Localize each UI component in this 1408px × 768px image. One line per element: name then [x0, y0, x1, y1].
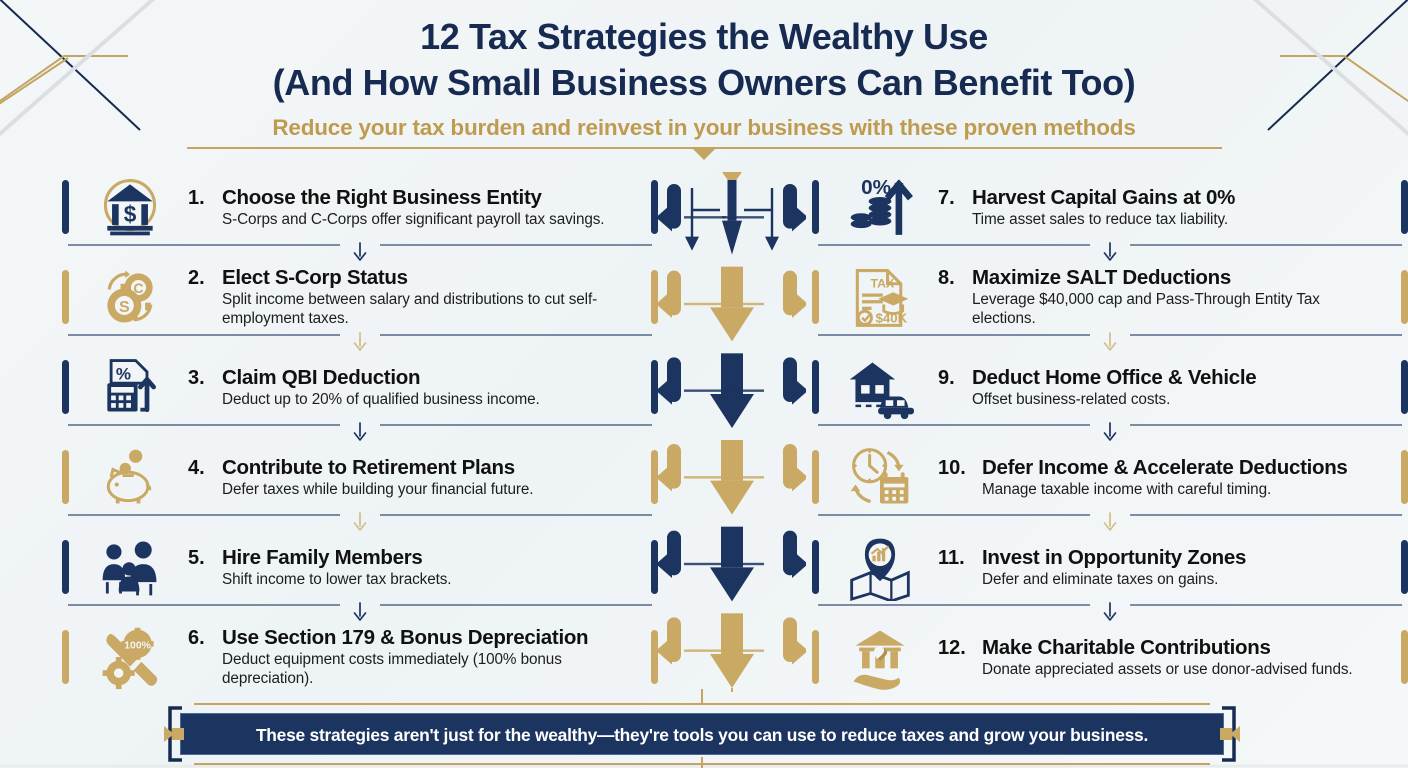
- map-pin-chart-icon: [826, 533, 934, 601]
- wrench-gear-100-icon: 100%: [76, 623, 184, 691]
- row-accent-bar-right: [651, 270, 658, 324]
- strategy-columns: $ 1. Choose the Right Business Entity S-…: [0, 172, 1408, 692]
- svg-text:TAX: TAX: [871, 277, 895, 291]
- separator-line-right: [1130, 244, 1402, 246]
- row-accent-bar-right: [651, 540, 658, 594]
- strategy-description: Deduct equipment costs immediately (100%…: [222, 650, 642, 688]
- row-accent-bar-right: [651, 360, 658, 414]
- charity-hand-heart-icon: [826, 623, 934, 691]
- strategy-headline-row: 1. Choose the Right Business Entity: [188, 186, 542, 210]
- coins-zero-percent-arrow-icon: 0%: [826, 173, 934, 241]
- clock-calendar-icon: [826, 443, 934, 511]
- row-accent-bar-left: [812, 270, 819, 324]
- strategy-headline-row: 5. Hire Family Members: [188, 546, 423, 570]
- row-separator: [62, 332, 658, 352]
- piggy-bank-icon: [76, 443, 184, 511]
- separator-line-left: [818, 424, 1090, 426]
- row-separator: [62, 602, 658, 622]
- separator-line-right: [1130, 334, 1402, 336]
- strategy-headline-row: 4. Contribute to Retirement Plans: [188, 456, 515, 480]
- page-title-line2: (And How Small Business Owners Can Benef…: [0, 60, 1408, 106]
- strategy-number: 6.: [188, 627, 222, 650]
- strategy-text: 7. Harvest Capital Gains at 0% Time asse…: [934, 186, 1392, 229]
- strategy-headline: Elect S-Corp Status: [222, 266, 408, 290]
- strategy-headline: Choose the Right Business Entity: [222, 186, 542, 210]
- row-separator: [812, 602, 1408, 622]
- family-icon: [76, 533, 184, 601]
- strategy-description: Donate appreciated assets or use donor-a…: [982, 660, 1353, 679]
- center-arrow-chain: [658, 172, 806, 692]
- strategy-headline-row: 3. Claim QBI Deduction: [188, 366, 420, 390]
- strategy-text: 12. Make Charitable Contributions Donate…: [934, 636, 1392, 679]
- strategy-text: 9. Deduct Home Office & Vehicle Offset b…: [934, 366, 1392, 409]
- row-separator: [812, 332, 1408, 352]
- strategy-headline-row: 7. Harvest Capital Gains at 0%: [938, 186, 1235, 210]
- footer-left-bracket-icon: [164, 706, 184, 762]
- separator-line-left: [818, 514, 1090, 516]
- separator-line-left: [818, 244, 1090, 246]
- strategy-headline-row: 2. Elect S-Corp Status: [188, 266, 408, 290]
- strategy-number: 4.: [188, 457, 222, 480]
- strategy-row[interactable]: 10. Defer Income & Accelerate Deductions…: [812, 442, 1408, 512]
- strategy-text: 6. Use Section 179 & Bonus Depreciation …: [184, 626, 642, 688]
- strategy-headline: Invest in Opportunity Zones: [982, 546, 1246, 570]
- row-accent-bar-right: [651, 180, 658, 234]
- row-accent-bar-left: [62, 630, 69, 684]
- row-separator: [812, 422, 1408, 442]
- separator-line-right: [1130, 514, 1402, 516]
- strategy-row[interactable]: $ 1. Choose the Right Business Entity S-…: [62, 172, 658, 242]
- svg-text:$40K: $40K: [876, 311, 908, 326]
- down-triangle-icon: [693, 149, 715, 160]
- row-accent-bar-left: [812, 360, 819, 414]
- strategy-row[interactable]: 0% 7. Harvest Capital Gains at 0% Time a…: [812, 172, 1408, 242]
- infographic-page: 12 Tax Strategies the Wealthy Use (And H…: [0, 0, 1408, 768]
- separator-down-arrow-icon: [350, 332, 370, 352]
- strategy-description: Defer and eliminate taxes on gains.: [982, 570, 1218, 589]
- separator-line-right: [1130, 604, 1402, 606]
- strategy-text: 1. Choose the Right Business Entity S-Co…: [184, 186, 642, 229]
- gears-s-c-icon: C S: [76, 263, 184, 331]
- strategy-description: Manage taxable income with careful timin…: [982, 480, 1271, 499]
- footer-rule-top: [194, 703, 1210, 705]
- strategy-headline-row: 10. Defer Income & Accelerate Deductions: [938, 456, 1348, 480]
- footer-banner: These strategies aren't just for the wea…: [180, 713, 1224, 755]
- separator-line-left: [68, 514, 340, 516]
- page-title-line1: 12 Tax Strategies the Wealthy Use: [0, 14, 1408, 60]
- separator-down-arrow-icon: [1100, 242, 1120, 262]
- strategy-description: S-Corps and C-Corps offer significant pa…: [222, 210, 604, 229]
- strategy-row[interactable]: 12. Make Charitable Contributions Donate…: [812, 622, 1408, 692]
- separator-line-right: [380, 244, 652, 246]
- strategy-headline: Maximize SALT Deductions: [972, 266, 1231, 290]
- subtitle-divider: [187, 147, 1222, 161]
- separator-line-right: [1130, 424, 1402, 426]
- row-accent-bar-left: [812, 180, 819, 234]
- row-accent-bar-left: [812, 450, 819, 504]
- separator-line-right: [380, 334, 652, 336]
- calculator-percent-arrow-icon: %: [76, 353, 184, 421]
- separator-line-right: [380, 424, 652, 426]
- row-accent-bar-right: [651, 630, 658, 684]
- row-accent-bar-left: [62, 360, 69, 414]
- house-car-icon: [826, 353, 934, 421]
- row-accent-bar-right: [1401, 630, 1408, 684]
- strategy-row[interactable]: C S 2. Elect S-Corp Status Split income …: [62, 262, 658, 332]
- row-accent-bar-left: [62, 540, 69, 594]
- strategy-headline: Deduct Home Office & Vehicle: [972, 366, 1256, 390]
- svg-text:100%: 100%: [124, 641, 151, 652]
- page-subtitle: Reduce your tax burden and reinvest in y…: [0, 115, 1408, 141]
- separator-down-arrow-icon: [1100, 512, 1120, 532]
- strategy-headline: Make Charitable Contributions: [982, 636, 1271, 660]
- bank-dollar-icon: $: [76, 173, 184, 241]
- row-accent-bar-right: [1401, 450, 1408, 504]
- row-separator: [812, 242, 1408, 262]
- strategy-row[interactable]: 11. Invest in Opportunity Zones Defer an…: [812, 532, 1408, 602]
- strategy-number: 11.: [938, 547, 982, 570]
- strategy-row[interactable]: 5. Hire Family Members Shift income to l…: [62, 532, 658, 602]
- svg-text:%: %: [116, 364, 131, 383]
- row-accent-bar-left: [62, 180, 69, 234]
- row-accent-bar-left: [812, 540, 819, 594]
- row-accent-bar-left: [62, 270, 69, 324]
- strategy-description: Leverage $40,000 cap and Pass-Through En…: [972, 290, 1384, 328]
- separator-line-right: [380, 604, 652, 606]
- strategy-text: 8. Maximize SALT Deductions Leverage $40…: [934, 266, 1392, 328]
- strategy-number: 1.: [188, 187, 222, 210]
- strategy-row[interactable]: 4. Contribute to Retirement Plans Defer …: [62, 442, 658, 512]
- svg-text:S: S: [119, 298, 130, 316]
- strategy-description: Defer taxes while building your financia…: [222, 480, 533, 499]
- row-separator: [62, 422, 658, 442]
- separator-line-left: [68, 334, 340, 336]
- strategy-description: Shift income to lower tax brackets.: [222, 570, 451, 589]
- strategy-headline: Contribute to Retirement Plans: [222, 456, 515, 480]
- footer-right-bracket-icon: [1220, 706, 1240, 762]
- strategy-number: 9.: [938, 367, 972, 390]
- separator-line-right: [380, 514, 652, 516]
- strategy-headline: Hire Family Members: [222, 546, 423, 570]
- separator-down-arrow-icon: [350, 602, 370, 622]
- separator-down-arrow-icon: [350, 422, 370, 442]
- strategy-headline-row: 9. Deduct Home Office & Vehicle: [938, 366, 1256, 390]
- left-column: $ 1. Choose the Right Business Entity S-…: [62, 172, 658, 692]
- separator-line-left: [818, 334, 1090, 336]
- strategy-row[interactable]: 100% 6. Use Section 179 & Bonus Deprecia…: [62, 622, 658, 692]
- row-separator: [62, 512, 658, 532]
- strategy-text: 4. Contribute to Retirement Plans Defer …: [184, 456, 642, 499]
- footer-band: These strategies aren't just for the wea…: [180, 713, 1224, 755]
- strategy-headline-row: 12. Make Charitable Contributions: [938, 636, 1271, 660]
- tax-document-40k-icon: TAX $40K: [826, 263, 934, 331]
- strategy-text: 10. Defer Income & Accelerate Deductions…: [934, 456, 1392, 499]
- strategy-number: 7.: [938, 187, 972, 210]
- strategy-number: 10.: [938, 457, 982, 480]
- strategy-number: 8.: [938, 267, 972, 290]
- strategy-headline: Defer Income & Accelerate Deductions: [982, 456, 1348, 480]
- strategy-row[interactable]: % 3. Claim QBI Deduction Deduct up to 20…: [62, 352, 658, 422]
- row-accent-bar-left: [812, 630, 819, 684]
- strategy-description: Split income between salary and distribu…: [222, 290, 642, 328]
- strategy-number: 5.: [188, 547, 222, 570]
- strategy-description: Time asset sales to reduce tax liability…: [972, 210, 1228, 229]
- strategy-row[interactable]: 9. Deduct Home Office & Vehicle Offset b…: [812, 352, 1408, 422]
- strategy-text: 3. Claim QBI Deduction Deduct up to 20% …: [184, 366, 642, 409]
- separator-down-arrow-icon: [350, 242, 370, 262]
- header: 12 Tax Strategies the Wealthy Use (And H…: [0, 14, 1408, 161]
- strategy-headline: Claim QBI Deduction: [222, 366, 420, 390]
- separator-line-left: [818, 604, 1090, 606]
- row-accent-bar-right: [1401, 540, 1408, 594]
- row-separator: [812, 512, 1408, 532]
- strategy-headline-row: 8. Maximize SALT Deductions: [938, 266, 1231, 290]
- strategy-number: 12.: [938, 637, 982, 660]
- separator-down-arrow-icon: [1100, 332, 1120, 352]
- strategy-description: Offset business-related costs.: [972, 390, 1170, 409]
- row-accent-bar-right: [1401, 360, 1408, 414]
- separator-down-arrow-icon: [1100, 602, 1120, 622]
- footer-text: These strategies aren't just for the wea…: [181, 714, 1223, 756]
- strategy-row[interactable]: TAX $40K 8. Maximize SALT Deductions Lev…: [812, 262, 1408, 332]
- strategy-headline-row: 11. Invest in Opportunity Zones: [938, 546, 1246, 570]
- separator-down-arrow-icon: [350, 512, 370, 532]
- row-separator: [62, 242, 658, 262]
- strategy-text: 2. Elect S-Corp Status Split income betw…: [184, 266, 642, 328]
- separator-down-arrow-icon: [1100, 422, 1120, 442]
- separator-line-left: [68, 244, 340, 246]
- strategy-number: 3.: [188, 367, 222, 390]
- strategy-headline-row: 6. Use Section 179 & Bonus Depreciation: [188, 626, 588, 650]
- strategy-headline: Use Section 179 & Bonus Depreciation: [222, 626, 588, 650]
- row-accent-bar-right: [651, 450, 658, 504]
- row-accent-bar-right: [1401, 270, 1408, 324]
- row-accent-bar-left: [62, 450, 69, 504]
- separator-line-left: [68, 424, 340, 426]
- strategy-text: 11. Invest in Opportunity Zones Defer an…: [934, 546, 1392, 589]
- row-accent-bar-right: [1401, 180, 1408, 234]
- center-connector-column: [658, 172, 806, 692]
- strategy-text: 5. Hire Family Members Shift income to l…: [184, 546, 642, 589]
- right-column: 0% 7. Harvest Capital Gains at 0% Time a…: [812, 172, 1408, 692]
- strategy-headline: Harvest Capital Gains at 0%: [972, 186, 1235, 210]
- svg-text:$: $: [124, 201, 137, 227]
- footer-stem-bottom: [701, 757, 703, 768]
- separator-line-left: [68, 604, 340, 606]
- strategy-description: Deduct up to 20% of qualified business i…: [222, 390, 540, 409]
- strategy-number: 2.: [188, 267, 222, 290]
